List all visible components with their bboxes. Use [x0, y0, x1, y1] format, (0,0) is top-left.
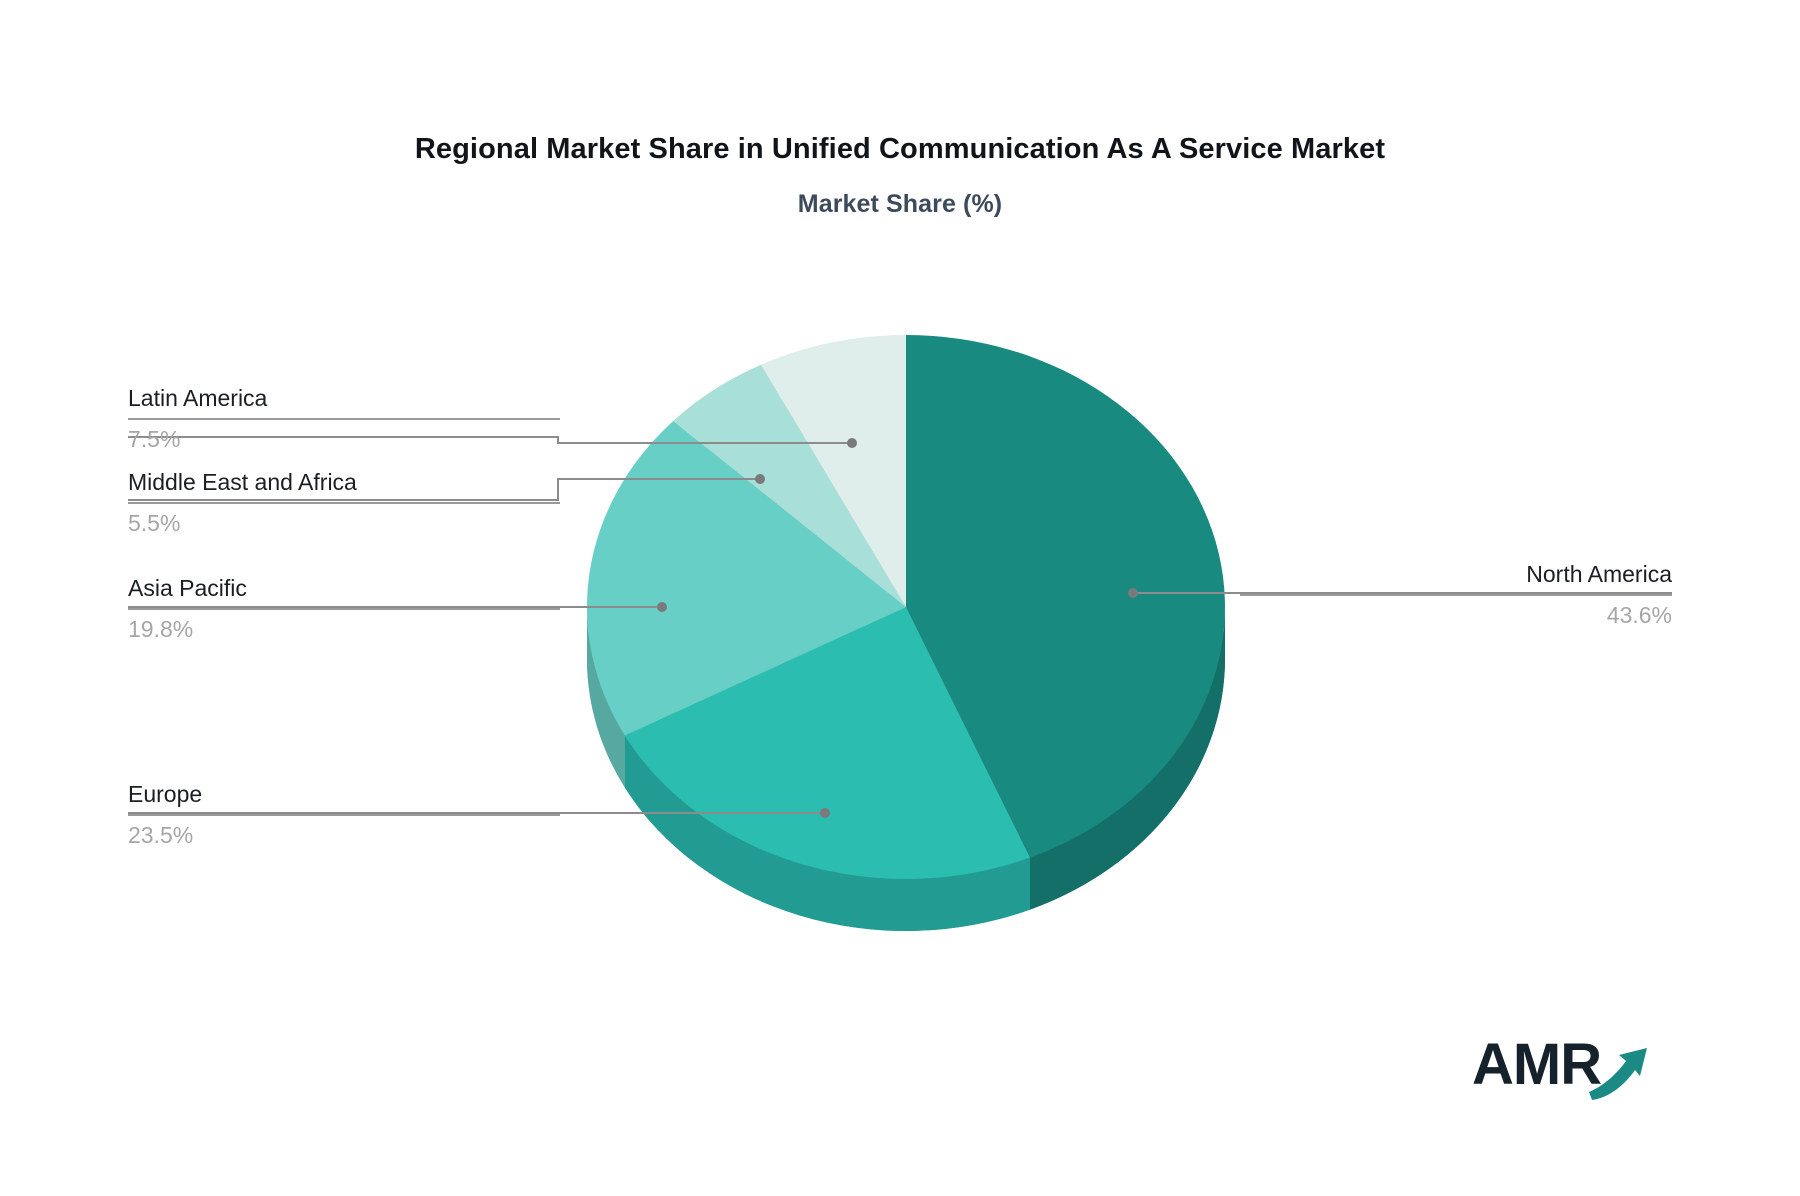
- amr-logo: AMR: [1472, 1028, 1662, 1104]
- callout-value-asia-pacific: 19.8%: [128, 614, 560, 644]
- leader-dot-north-america: [1128, 588, 1138, 598]
- callout-label-latin-america: Latin America: [128, 383, 560, 413]
- callout-value-latin-america: 7.5%: [128, 424, 560, 454]
- callout-middle-east-and-africa[interactable]: Middle East and Africa 5.5%: [128, 467, 560, 538]
- callout-value-europe: 23.5%: [128, 820, 560, 850]
- callout-rule-middle-east-and-africa: [128, 502, 560, 504]
- callout-rule-europe: [128, 814, 560, 816]
- leader-dot-middle-east-and-africa: [755, 474, 765, 484]
- callout-rule-asia-pacific: [128, 608, 560, 610]
- callout-rule-north-america: [1240, 594, 1672, 596]
- leader-dot-asia-pacific: [657, 602, 667, 612]
- pie-top-face: [587, 335, 1225, 879]
- chart-canvas: Regional Market Share in Unified Communi…: [0, 0, 1800, 1196]
- amr-logo-text: AMR: [1472, 1032, 1601, 1097]
- leader-dot-latin-america: [847, 438, 857, 448]
- callout-label-asia-pacific: Asia Pacific: [128, 573, 560, 603]
- callout-europe[interactable]: Europe 23.5%: [128, 779, 560, 850]
- callout-value-north-america: 43.6%: [1240, 600, 1672, 630]
- callout-label-north-america: North America: [1240, 559, 1672, 589]
- callout-value-middle-east-and-africa: 5.5%: [128, 508, 560, 538]
- callout-latin-america[interactable]: Latin America 7.5%: [128, 383, 560, 454]
- callout-asia-pacific[interactable]: Asia Pacific 19.8%: [128, 573, 560, 644]
- callout-rule-latin-america: [128, 418, 560, 420]
- callout-north-america[interactable]: North America 43.6%: [1240, 559, 1672, 630]
- leader-dot-europe: [820, 808, 830, 818]
- callout-label-middle-east-and-africa: Middle East and Africa: [128, 467, 560, 497]
- callout-label-europe: Europe: [128, 779, 560, 809]
